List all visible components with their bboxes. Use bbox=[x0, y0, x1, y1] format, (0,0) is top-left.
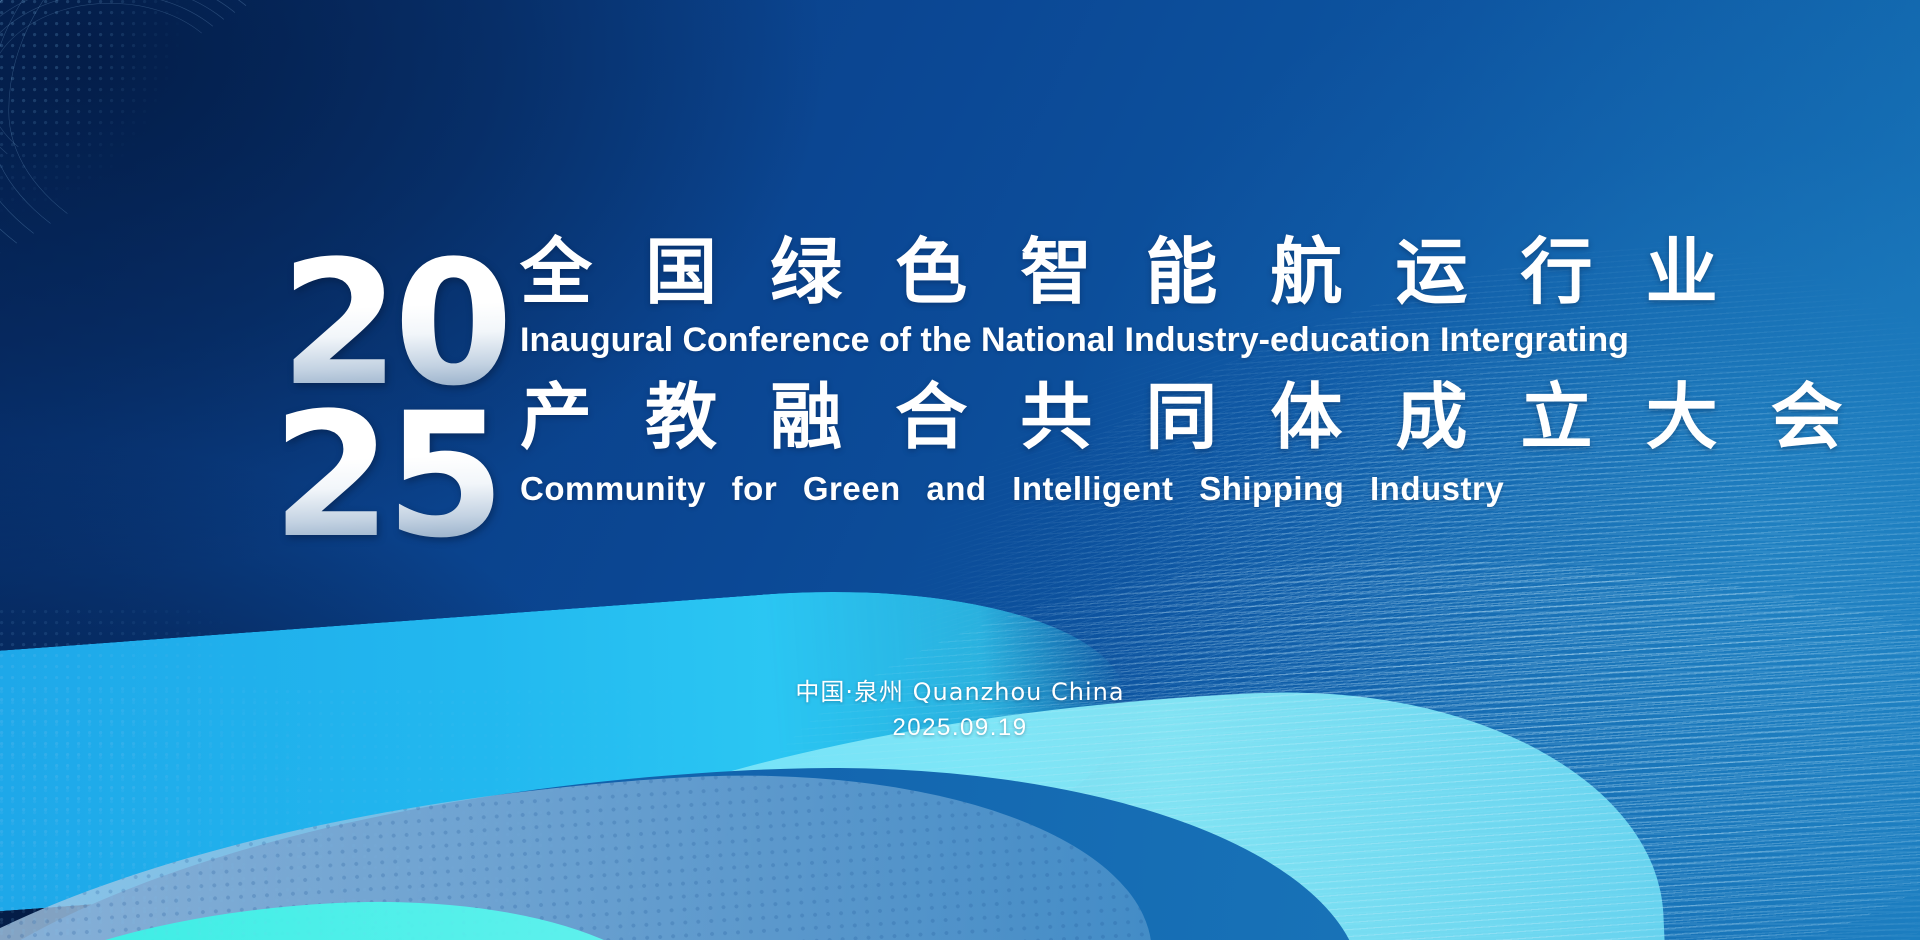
title-chinese-line-2: 产 教 融 合 共 同 体 成 立 大 会 bbox=[520, 381, 1640, 453]
event-date: 2025.09.19 bbox=[0, 714, 1920, 742]
title-block: 全 国 绿 色 智 能 航 运 行 业 Inaugural Conference… bbox=[520, 236, 1640, 508]
title-chinese-line-1: 全 国 绿 色 智 能 航 运 行 业 bbox=[520, 236, 1640, 308]
banner-content: 20 25 全 国 绿 色 智 能 航 运 行 业 Inaugural Conf… bbox=[0, 0, 1920, 940]
subtitle-english-line-2: Community for Green and Intelligent Ship… bbox=[520, 471, 1640, 507]
event-location: 中国·泉州 Quanzhou China bbox=[0, 676, 1920, 708]
year-logo-bottom-digits: 25 bbox=[272, 390, 499, 562]
event-meta: 中国·泉州 Quanzhou China 2025.09.19 bbox=[0, 676, 1920, 742]
year-logo-2025: 20 25 bbox=[272, 238, 502, 568]
subtitle-english-line-1: Inaugural Conference of the National Ind… bbox=[520, 322, 1640, 359]
conference-banner: 20 25 全 国 绿 色 智 能 航 运 行 业 Inaugural Conf… bbox=[0, 0, 1920, 940]
